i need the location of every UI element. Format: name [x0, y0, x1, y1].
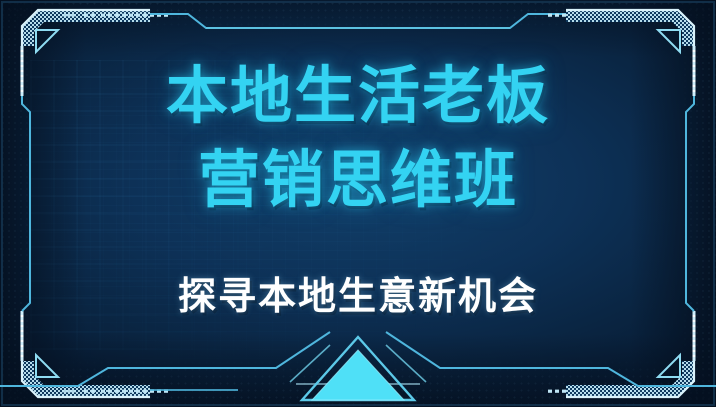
poster-title-line-2: 营销思维班 [0, 150, 716, 212]
frame-top-span [150, 14, 566, 28]
poster-canvas: 本地生活老板 营销思维班 探寻本地生意新机会 [0, 0, 716, 407]
center-triangle-icon [302, 337, 414, 400]
poster-title-line-1: 本地生活老板 [0, 66, 716, 128]
poster-subtitle: 探寻本地生意新机会 [0, 278, 716, 316]
